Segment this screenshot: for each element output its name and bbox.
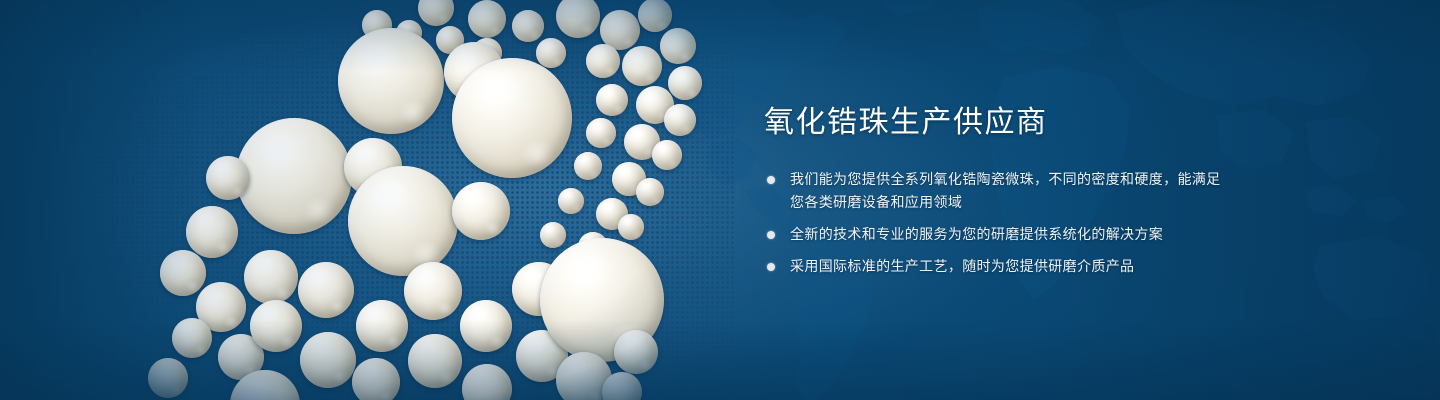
bullet-text: 采用国际标准的生产工艺，随时为您提供研磨介质产品 xyxy=(790,255,1232,278)
banner-content: 氧化锆珠生产供应商 我们能为您提供全系列氧化锆陶瓷微珠，不同的密度和硬度，能满足… xyxy=(762,104,1232,278)
hero-banner: 氧化锆珠生产供应商 我们能为您提供全系列氧化锆陶瓷微珠，不同的密度和硬度，能满足… xyxy=(0,0,1440,400)
banner-bullet-item: 全新的技术和专业的服务为您的研磨提供系统化的解决方案 xyxy=(762,223,1232,246)
banner-bullet-item: 采用国际标准的生产工艺，随时为您提供研磨介质产品 xyxy=(762,255,1232,278)
bullet-text: 我们能为您提供全系列氧化锆陶瓷微珠，不同的密度和硬度，能满足您各类研磨设备和应用… xyxy=(790,168,1232,214)
bullet-text: 全新的技术和专业的服务为您的研磨提供系统化的解决方案 xyxy=(790,223,1232,246)
banner-headline: 氧化锆珠生产供应商 xyxy=(764,104,1232,142)
bullet-dot-icon xyxy=(767,176,775,184)
banner-bullet-list: 我们能为您提供全系列氧化锆陶瓷微珠，不同的密度和硬度，能满足您各类研磨设备和应用… xyxy=(762,168,1232,278)
banner-bullet-item: 我们能为您提供全系列氧化锆陶瓷微珠，不同的密度和硬度，能满足您各类研磨设备和应用… xyxy=(762,168,1232,214)
bullet-dot-icon xyxy=(767,231,775,239)
bullet-dot-icon xyxy=(767,263,775,271)
